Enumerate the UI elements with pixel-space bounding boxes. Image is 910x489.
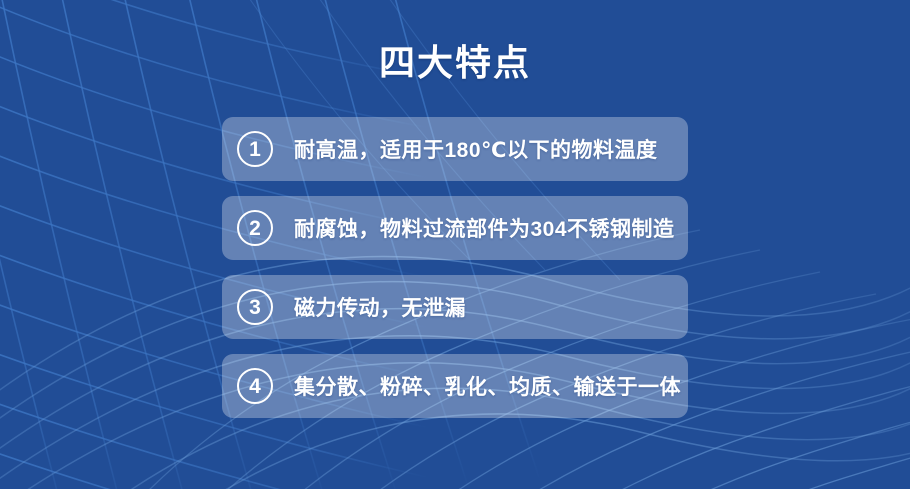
feature-number-badge-2: 2 [237,210,273,246]
feature-number-badge-1: 1 [237,131,273,167]
feature-banner: 四大特点 1 耐高温，适用于180℃以下的物料温度 2 耐腐蚀，物料过流部件为3… [0,0,910,489]
feature-text-1: 耐高温，适用于180℃以下的物料温度 [294,134,657,164]
feature-text-3: 磁力传动，无泄漏 [294,292,466,322]
feature-row-3: 3 磁力传动，无泄漏 [222,275,688,339]
feature-text-2: 耐腐蚀，物料过流部件为304不锈钢制造 [294,213,675,243]
feature-list: 1 耐高温，适用于180℃以下的物料温度 2 耐腐蚀，物料过流部件为304不锈钢… [222,117,688,418]
feature-number-badge-3: 3 [237,289,273,325]
feature-row-4: 4 集分散、粉碎、乳化、均质、输送于一体 [222,354,688,418]
feature-text-4: 集分散、粉碎、乳化、均质、输送于一体 [294,371,681,401]
page-title: 四大特点 [0,41,910,85]
feature-row-2: 2 耐腐蚀，物料过流部件为304不锈钢制造 [222,196,688,260]
banner-content: 四大特点 1 耐高温，适用于180℃以下的物料温度 2 耐腐蚀，物料过流部件为3… [0,0,910,489]
feature-number-badge-4: 4 [237,368,273,404]
feature-row-1: 1 耐高温，适用于180℃以下的物料温度 [222,117,688,181]
